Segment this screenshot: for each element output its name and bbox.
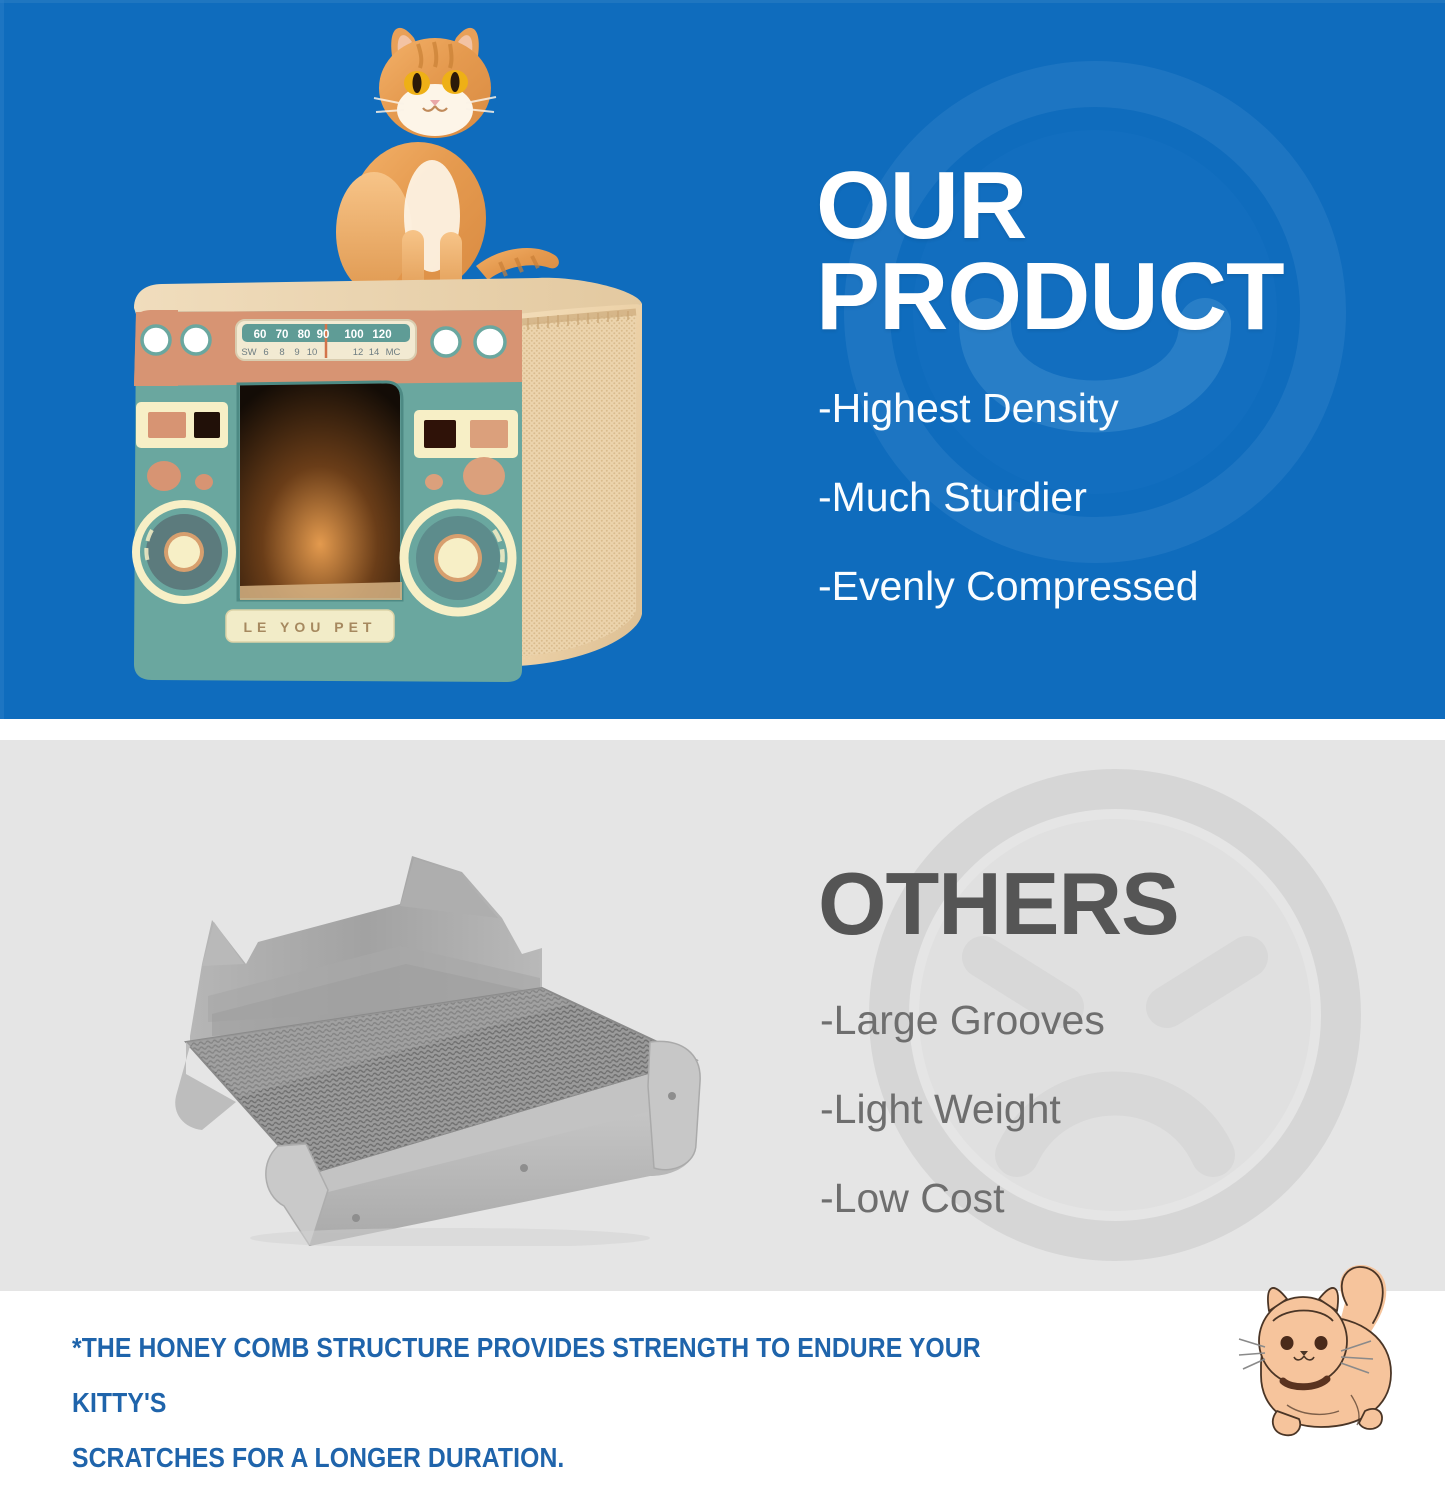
footnote: *THE HONEY COMB STRUCTURE PROVIDES STREN… xyxy=(72,1320,1076,1485)
svg-text:SW: SW xyxy=(241,347,256,358)
svg-text:80: 80 xyxy=(298,329,311,341)
panel-top-edge xyxy=(0,0,1445,3)
others-feature-list: -Large Grooves -Light Weight -Low Cost xyxy=(820,1000,1105,1267)
svg-text:6: 6 xyxy=(263,347,268,358)
svg-text:60: 60 xyxy=(254,329,267,341)
brand-label: LE YOU PET xyxy=(244,619,377,635)
list-item: -Light Weight xyxy=(820,1089,1105,1130)
list-item: -Much Sturdier xyxy=(818,477,1199,518)
svg-text:9: 9 xyxy=(294,347,299,358)
panel-left-edge xyxy=(0,0,4,719)
svg-text:70: 70 xyxy=(276,329,289,341)
gray-cat-ear-scratcher-lounger xyxy=(150,846,716,1246)
list-item: -Highest Density xyxy=(818,388,1199,429)
svg-text:100: 100 xyxy=(344,329,363,341)
orange-tabby-cat-photo xyxy=(300,4,568,304)
page-title-our-product: OUR PRODUCT xyxy=(816,160,1376,342)
svg-text:90: 90 xyxy=(317,329,330,341)
list-item: -Low Cost xyxy=(820,1178,1105,1219)
boombox-cat-scratcher-house: 6070 8090 100120 SW68 910 1214MC LE YOU xyxy=(118,262,660,682)
list-item: -Evenly Compressed xyxy=(818,566,1199,607)
list-item: -Large Grooves xyxy=(820,1000,1105,1041)
page-title-others: OTHERS xyxy=(818,862,1378,946)
svg-text:14: 14 xyxy=(369,347,380,358)
our-product-feature-list: -Highest Density -Much Sturdier -Evenly … xyxy=(818,388,1199,655)
footnote-line-1: *THE HONEY COMB STRUCTURE PROVIDES STREN… xyxy=(72,1320,1076,1430)
svg-text:120: 120 xyxy=(372,329,391,341)
svg-text:12: 12 xyxy=(353,347,364,358)
svg-text:MC: MC xyxy=(386,347,401,358)
svg-text:10: 10 xyxy=(307,347,318,358)
svg-text:8: 8 xyxy=(279,347,284,358)
footnote-line-2: SCRATCHES FOR A LONGER DURATION. xyxy=(72,1430,1076,1485)
cartoon-cat-mascot xyxy=(1225,1255,1445,1444)
